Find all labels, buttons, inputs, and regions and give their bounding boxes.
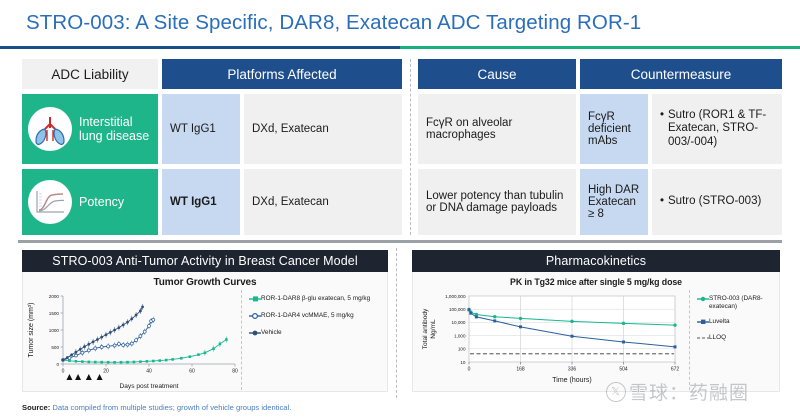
legend-item: ROR-1-DAR4 vcMMAE, 5 mg/kg (249, 312, 387, 322)
svg-text:0: 0 (56, 362, 59, 367)
svg-text:1,000: 1,000 (454, 333, 466, 338)
bullet-text: Sutro (ROR1 & TF-Exatecan, STRO-003/-004… (668, 109, 774, 150)
chart-panels: STRO-003 Anti-Tumor Activity in Breast C… (0, 240, 800, 400)
svg-text:1000: 1000 (49, 328, 60, 333)
matrix-left-group: ADC Liability Platforms Affected In (22, 59, 402, 235)
svg-text:10,000: 10,000 (451, 320, 465, 325)
legend-marker-square-icon (249, 296, 261, 305)
panel-pk-title: Pharmacokinetics (412, 250, 780, 272)
svg-text:1,000,000: 1,000,000 (445, 294, 466, 299)
svg-text:504: 504 (619, 367, 628, 373)
matrix-row-potency-right: Lower potency than tubulin or DNA damage… (418, 169, 782, 235)
legend-label: ROR-1-DAR8 β-glu exatecan, 5 mg/kg (261, 295, 370, 303)
liability-label-potency: Potency (79, 195, 158, 210)
bullet-text: Sutro (STRO-003) (668, 195, 761, 209)
panel-pharmacokinetics: Pharmacokinetics PK in Tg32 mice after s… (412, 250, 780, 392)
source-text: Data compiled from multiple studies; gro… (52, 403, 291, 412)
header-adc-liability: ADC Liability (22, 59, 158, 89)
panel-antitumor: STRO-003 Anti-Tumor Activity in Breast C… (22, 250, 388, 392)
platform-highlight-potency: WT IgG1 (162, 169, 240, 235)
matrix-row-ild-right: FcγR on alveolar macrophages FcγR defici… (418, 94, 782, 164)
panel-antitumor-body: Tumor Growth Curves 05001000150020000204… (22, 272, 388, 392)
watermark: 𝕏 雪球：药融圈 (606, 378, 749, 405)
legend-label: Vehicle (261, 329, 282, 337)
potency-curve-icon (28, 180, 72, 224)
legend-marker-dashed-icon (697, 335, 709, 344)
source-note: Source: Data compiled from multiple stud… (22, 403, 291, 412)
pk-chart-wrap: 0168336504672101001,00010,000100,0001,00… (413, 290, 779, 390)
panels-vertical-divider (396, 248, 397, 398)
countermeasure-cell-potency: • Sutro (STRO-003) (652, 169, 782, 235)
svg-text:100,000: 100,000 (449, 307, 466, 312)
header-platforms-affected: Platforms Affected (162, 59, 402, 89)
svg-text:20: 20 (103, 369, 109, 375)
svg-text:Days post treatment: Days post treatment (119, 383, 178, 390)
pk-chart: 0168336504672101001,00010,000100,0001,00… (413, 290, 689, 390)
matrix-vertical-divider (410, 59, 411, 235)
legend-item: Vehicle (249, 329, 387, 339)
svg-text:10: 10 (460, 360, 466, 365)
svg-text:60: 60 (189, 369, 195, 375)
legend-marker-circle-open-icon (249, 313, 261, 322)
legend-item: LLOQ (697, 334, 775, 344)
header-countermeasure: Countermeasure (580, 59, 782, 89)
watermark-ring-icon: 𝕏 (606, 382, 626, 402)
tumor-chart-wrap: 0500100015002000020406080Tumor size (mm³… (23, 290, 387, 390)
svg-text:40: 40 (146, 369, 152, 375)
chart-title-pk: PK in Tg32 mice after single 5 mg/kg dos… (413, 272, 779, 287)
svg-text:168: 168 (516, 367, 525, 373)
svg-text:Time (hours): Time (hours) (552, 377, 591, 384)
bullet-icon: • (660, 195, 668, 209)
legend-label: ROR-1-DAR4 vcMMAE, 5 mg/kg (261, 312, 354, 320)
matrix-right-group: Cause Countermeasure FcγR on alveolar ma… (418, 59, 782, 235)
legend-item: ROR-1-DAR8 β-glu exatecan, 5 mg/kg (249, 295, 387, 305)
legend-label: STRO-003 (DAR8-exatecan) (709, 295, 775, 311)
svg-text:500: 500 (51, 345, 59, 350)
tumor-legend: ROR-1-DAR8 β-glu exatecan, 5 mg/kg ROR-1… (241, 290, 387, 390)
legend-item: STRO-003 (DAR8-exatecan) (697, 295, 775, 311)
slide-root: STRO-003: A Site Specific, DAR8, Exateca… (0, 0, 800, 420)
svg-text:Ng/mL: Ng/mL (430, 319, 437, 339)
header-cause: Cause (418, 59, 576, 89)
tumor-plot-area: 0500100015002000020406080Tumor size (mm³… (23, 290, 241, 390)
panel-antitumor-title: STRO-003 Anti-Tumor Activity in Breast C… (22, 250, 388, 272)
liability-matrix: ADC Liability Platforms Affected In (22, 59, 782, 235)
liability-cell-ild: Interstitial lung disease (22, 94, 158, 164)
countermeasure-highlight-potency: High DAR Exatecan ≥ 8 (580, 169, 648, 235)
liability-label-ild: Interstitial lung disease (79, 115, 158, 144)
legend-label: LLOQ (709, 334, 726, 342)
page-title: STRO-003: A Site Specific, DAR8, Exateca… (26, 11, 641, 35)
svg-text:80: 80 (232, 369, 238, 375)
watermark-text: 雪球：药融圈 (629, 378, 749, 405)
countermeasure-bullets-ild: • Sutro (ROR1 & TF-Exatecan, STRO-003/-0… (660, 109, 774, 150)
countermeasure-cell-ild: • Sutro (ROR1 & TF-Exatecan, STRO-003/-0… (652, 94, 782, 164)
lungs-icon (28, 107, 72, 151)
legend-marker-square-icon (697, 319, 709, 328)
cause-cell-ild: FcγR on alveolar macrophages (418, 94, 576, 164)
cause-cell-potency: Lower potency than tubulin or DNA damage… (418, 169, 576, 235)
matrix-right-headers: Cause Countermeasure (418, 59, 782, 89)
tumor-growth-chart: 0500100015002000020406080Tumor size (mm³… (23, 290, 241, 390)
bullet-icon: • (660, 109, 668, 150)
platform-highlight-potency-text: WT IgG1 (170, 196, 217, 208)
platform-other-potency: DXd, Exatecan (244, 169, 402, 235)
pk-plot-area: 0168336504672101001,00010,000100,0001,00… (413, 290, 689, 390)
liability-cell-potency: Potency (22, 169, 158, 235)
svg-text:0: 0 (468, 367, 471, 373)
legend-item: Luvelta (697, 318, 775, 328)
panel-pk-body: PK in Tg32 mice after single 5 mg/kg dos… (412, 272, 780, 392)
legend-label: Luvelta (709, 318, 730, 326)
title-underline-blue (0, 46, 400, 49)
svg-text:1500: 1500 (49, 311, 60, 316)
platform-other-ild: DXd, Exatecan (244, 94, 402, 164)
svg-text:Tumor size (mm³): Tumor size (mm³) (28, 303, 35, 358)
title-underline (0, 46, 800, 49)
pk-legend: STRO-003 (DAR8-exatecan) Luvelta (689, 290, 775, 390)
legend-marker-circle-filled-icon (697, 296, 709, 305)
title-underline-green (400, 46, 800, 49)
svg-text:0: 0 (62, 369, 65, 375)
countermeasure-highlight-ild: FcγR deficient mAbs (580, 94, 648, 164)
matrix-row-ild-left: Interstitial lung disease WT IgG1 DXd, E… (22, 94, 402, 164)
source-label: Source: (22, 403, 50, 412)
svg-text:672: 672 (671, 367, 680, 373)
svg-text:2000: 2000 (49, 294, 60, 299)
legend-marker-circle-filled-icon (249, 330, 261, 339)
countermeasure-bullets-potency: • Sutro (STRO-003) (660, 195, 761, 209)
matrix-left-headers: ADC Liability Platforms Affected (22, 59, 402, 89)
platform-highlight-ild: WT IgG1 (162, 94, 240, 164)
slide-title-bar: STRO-003: A Site Specific, DAR8, Exateca… (0, 0, 800, 46)
list-item: • Sutro (ROR1 & TF-Exatecan, STRO-003/-0… (660, 109, 774, 150)
list-item: • Sutro (STRO-003) (660, 195, 761, 209)
svg-text:336: 336 (568, 367, 577, 373)
panels-top-rule (18, 240, 782, 243)
matrix-row-potency-left: Potency WT IgG1 DXd, Exatecan (22, 169, 402, 235)
svg-text:Total antibody: Total antibody (422, 308, 429, 349)
chart-title-tumor-growth: Tumor Growth Curves (23, 272, 387, 288)
svg-text:100: 100 (458, 347, 466, 352)
